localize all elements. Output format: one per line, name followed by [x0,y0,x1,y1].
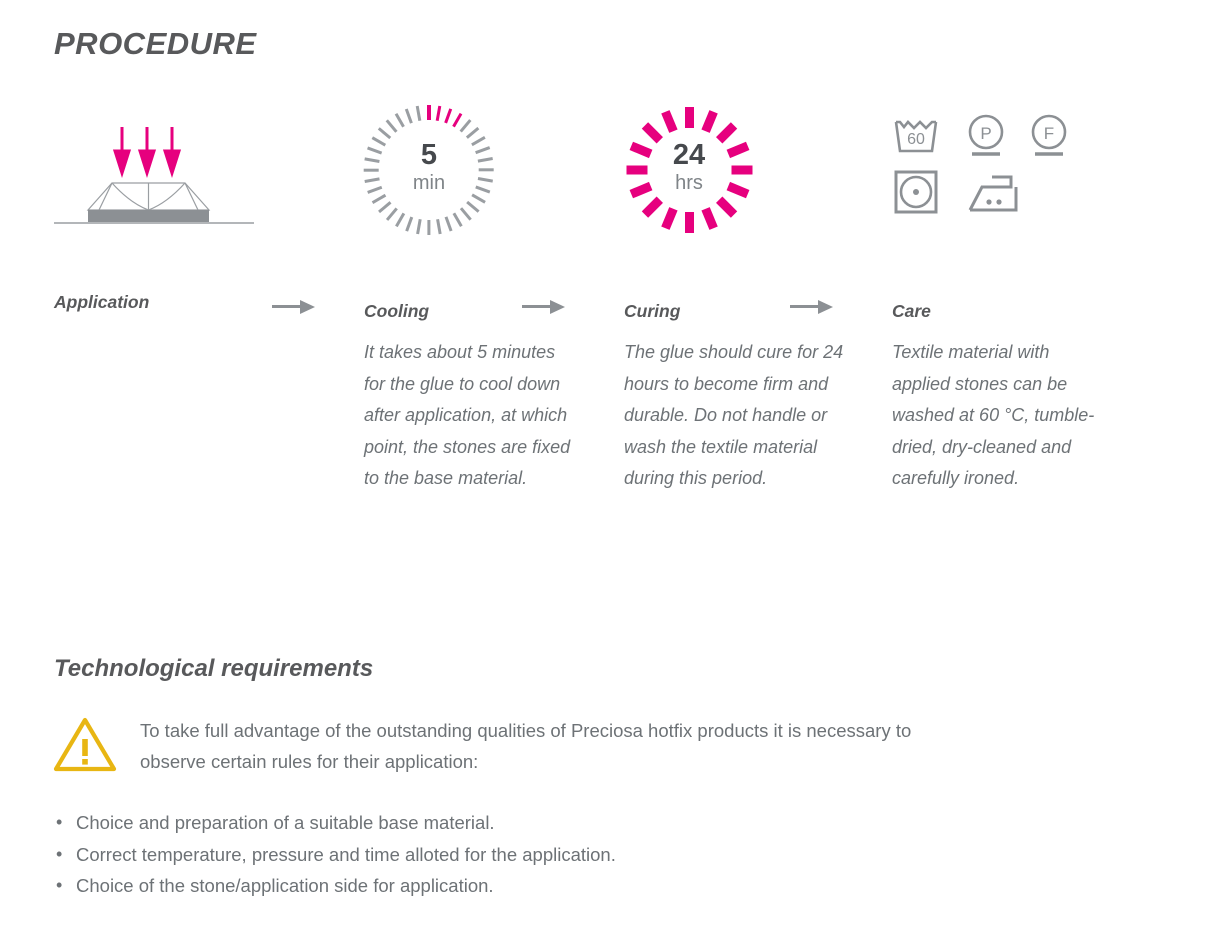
stone-pressing-icon [54,105,254,255]
timer-tick [701,207,717,230]
timer-tick [626,166,647,175]
arrow-right-icon-1 [272,300,318,314]
timer-tick [479,168,494,171]
care-symbols: 60 P F [892,105,1107,215]
timer-tick [364,168,379,171]
timer-tick [453,113,463,128]
timer-tick [436,106,442,121]
timer-tick [405,108,413,123]
arrow-head [300,300,315,314]
timer-tick [460,119,472,133]
tech-requirements-notice-text: To take full advantage of the outstandin… [140,715,970,777]
timer-tick [466,201,480,213]
procedure-step-application: Application [54,105,254,328]
application-icon-wrap [54,105,254,255]
tech-requirements-notice: To take full advantage of the outstandin… [52,715,970,777]
list-item: Choice and preparation of a suitable bas… [54,807,616,839]
cooling-icon-wrap: 5 min [364,105,579,255]
care-symbols-row-1: 60 P F [892,113,1107,158]
care-icon-wrap: 60 P F [892,105,1107,255]
care-symbols-row-2 [892,169,1107,215]
step-label-care: Care [892,301,1107,322]
timer-tick [378,201,392,213]
timer-tick [395,212,405,227]
timer-center-cooling: 5 min [364,141,494,193]
timer-tick [372,194,387,204]
timer-tick [386,207,398,221]
timer-tick [661,110,677,133]
timer-tick [466,127,480,139]
timer-tick [395,113,405,128]
timer-tick [445,216,453,231]
timer-tick [386,119,398,133]
timer-tick [427,105,430,120]
arrow-head [818,300,833,314]
dryclean-p-icon: P [964,113,1008,158]
timer-tick [460,207,472,221]
arrow-shaft [272,305,302,308]
warning-triangle-icon [52,715,118,773]
timer-tick [661,207,677,230]
timer-tick [716,197,737,218]
burst-timer-icon-curing: 24 hrs [624,105,754,235]
timer-unit-cooling: min [364,173,494,193]
dryclean-f-icon: F [1027,113,1071,158]
arrow-head [550,300,565,314]
timer-tick [453,212,463,227]
dryclean-p-label: P [980,124,991,143]
step-text-care: Textile material with applied stones can… [892,337,1107,495]
step-text-cooling: It takes about 5 minutes for the glue to… [364,337,579,495]
timer-tick [641,197,662,218]
arrow-shaft [522,305,552,308]
procedure-step-care: 60 P F [892,105,1107,495]
procedure-steps: Application 5 min Cooling It takes about… [0,105,1213,575]
step-text-curing: The glue should cure for 24 hours to bec… [624,337,854,495]
iron-medium-icon [964,169,1024,215]
timer-tick [378,127,392,139]
wash-temp-label: 60 [907,131,925,148]
page-title: PROCEDURE [54,26,257,62]
tech-requirements-bullet-list: Choice and preparation of a suitable bas… [54,807,616,902]
timer-tick [731,166,752,175]
timer-tick [685,107,694,128]
arrow-shaft [790,305,820,308]
timer-tick [685,212,694,233]
list-item: Correct temperature, pressure and time a… [54,839,616,871]
timer-tick [416,219,422,234]
dryclean-f-label: F [1044,124,1054,143]
wash-60-icon: 60 [892,113,945,158]
tech-requirements-title: Technological requirements [54,655,373,683]
tumble-dry-icon [892,169,945,215]
arrow-right-icon-3 [790,300,836,314]
curing-icon-wrap: 24 hrs [624,105,854,255]
timer-tick [436,219,442,234]
timer-tick [445,108,453,123]
step-label-application: Application [54,292,254,313]
timer-tick [405,216,413,231]
timer-tick [427,220,430,235]
timer-tick [471,194,486,204]
list-item: Choice of the stone/application side for… [54,870,616,902]
timer-tick [701,110,717,133]
timer-icon-cooling: 5 min [364,105,494,235]
arrow-right-icon-2 [522,300,568,314]
timer-tick [416,106,422,121]
